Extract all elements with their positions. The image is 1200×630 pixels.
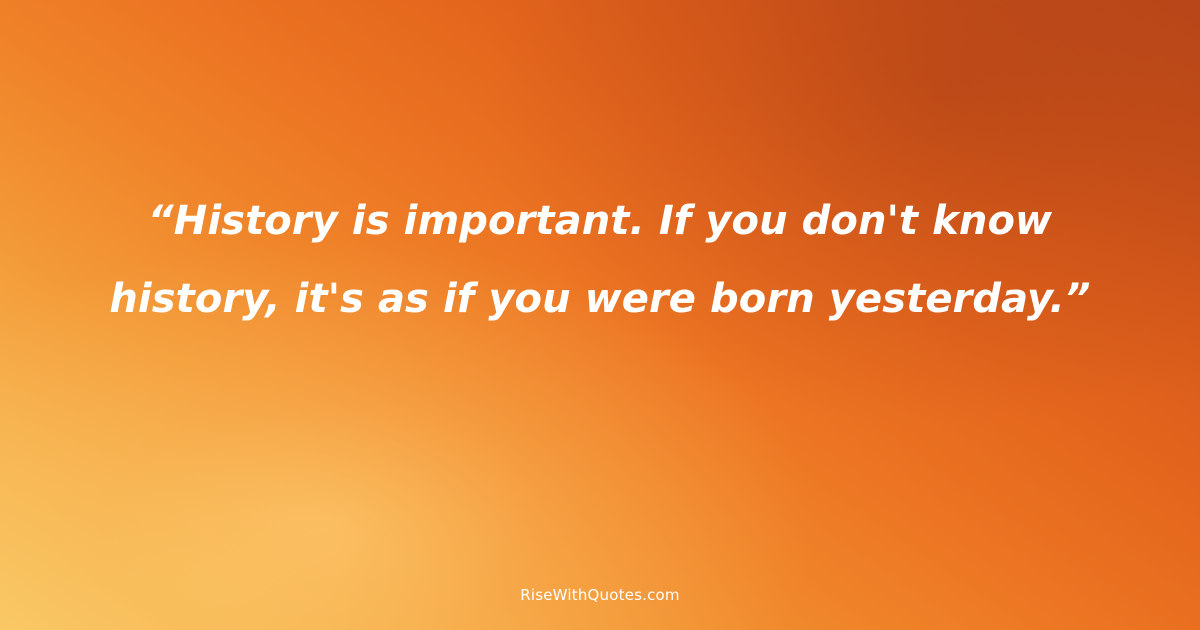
- quote-card: “History is important. If you don't know…: [0, 0, 1200, 630]
- quote-container: “History is important. If you don't know…: [0, 0, 1200, 520]
- site-credit-watermark: RiseWithQuotes.com: [0, 586, 1200, 604]
- quote-text: “History is important. If you don't know…: [108, 182, 1093, 338]
